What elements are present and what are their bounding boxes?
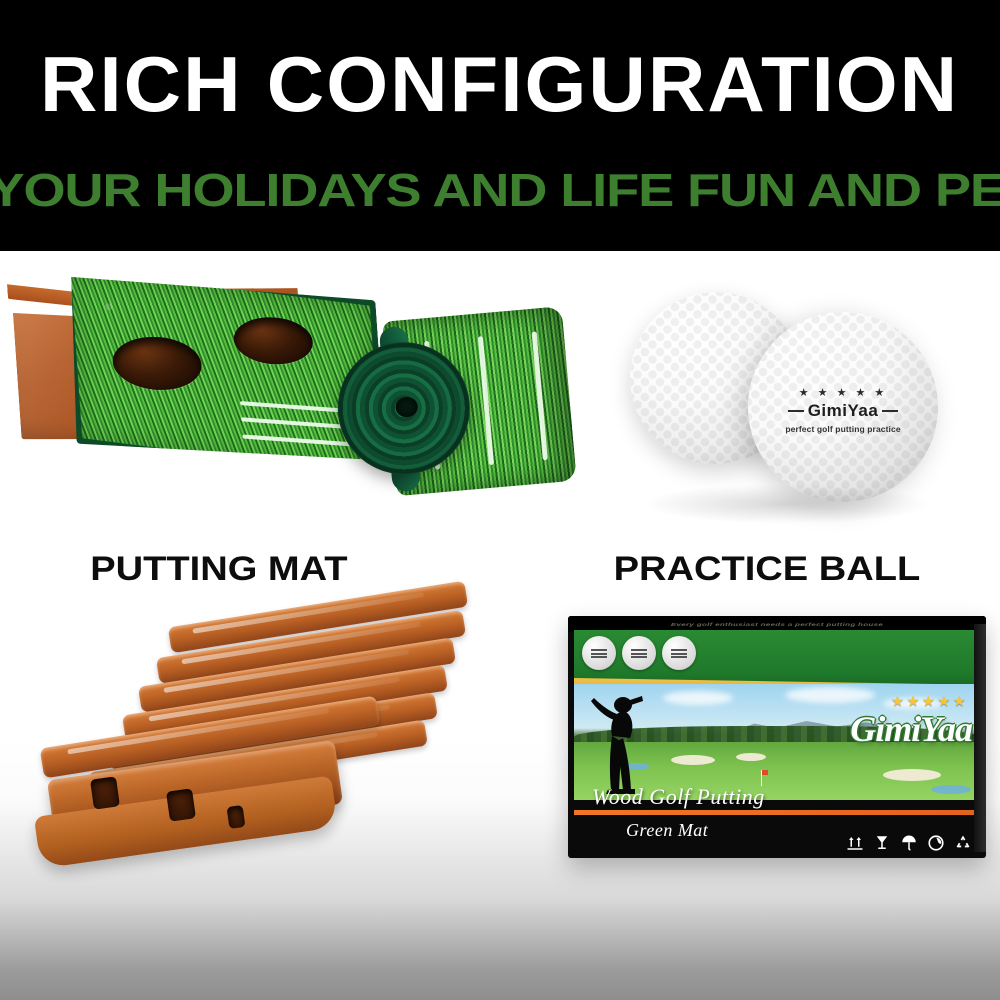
ball-star-rating: ★ ★ ★ ★ ★ [748, 388, 938, 399]
base-slot [166, 788, 196, 821]
box-brand-logo: GimiYaa [850, 708, 972, 750]
ball-tagline: perfect golf putting practice [748, 424, 938, 434]
box-orange-stripe [574, 810, 980, 815]
brand-rule-left [788, 410, 804, 412]
product-infographic-poster: RICH CONFIGURATION MAKE YOUR HOLIDAYS AN… [0, 0, 1000, 1000]
box-product-subtitle: Green Mat [626, 820, 708, 841]
page-subtitle: MAKE YOUR HOLIDAYS AND LIFE FUN AND PERF… [0, 167, 1000, 213]
golf-ball-front: ★ ★ ★ ★ ★ GimiYaa perfect golf putting p… [748, 312, 938, 502]
product-package-box: Every golf enthusiast needs a perfect pu… [568, 616, 986, 858]
wooden-parts-image [10, 600, 530, 890]
putting-mat-image [8, 268, 548, 528]
ball-print-block: ★ ★ ★ ★ ★ GimiYaa perfect golf putting p… [748, 388, 938, 434]
golfer-silhouette-icon [590, 690, 648, 794]
base-slot [90, 776, 120, 809]
header-banner: RICH CONFIGURATION MAKE YOUR HOLIDAYS AN… [0, 0, 1000, 251]
ball-brand-name: GimiYaa [808, 401, 879, 421]
label-putting-mat: PUTTING MAT [90, 550, 347, 589]
base-slot [227, 805, 246, 829]
ball-reflection-shadow [642, 484, 932, 524]
box-product-title: Wood Golf Putting [592, 784, 765, 810]
page-title: RICH CONFIGURATION [40, 45, 959, 123]
circular-arrow-icon [927, 834, 945, 852]
fragile-glass-icon [873, 834, 891, 852]
recycle-icon [954, 834, 972, 852]
label-practice-ball: PRACTICE BALL [614, 550, 921, 589]
cloud-shape [663, 691, 733, 705]
ball-brand-row: GimiYaa [748, 401, 938, 421]
this-side-up-icon [846, 834, 864, 852]
box-top-banner-text: Every golf enthusiast needs a perfect pu… [671, 621, 883, 627]
sand-bunker [736, 753, 766, 761]
shipping-icon-row [846, 834, 972, 852]
golf-ball-badge-icon [582, 636, 616, 670]
practice-ball-image: ★ ★ ★ ★ ★ GimiYaa perfect golf putting p… [620, 288, 980, 538]
cloud-shape [785, 687, 875, 703]
golf-ball-badge-icon [622, 636, 656, 670]
box-side-face [974, 624, 986, 852]
golf-ball-badge-icon [662, 636, 696, 670]
rolled-mat [330, 306, 575, 510]
brand-rule-right [882, 410, 898, 412]
keep-dry-umbrella-icon [900, 834, 918, 852]
